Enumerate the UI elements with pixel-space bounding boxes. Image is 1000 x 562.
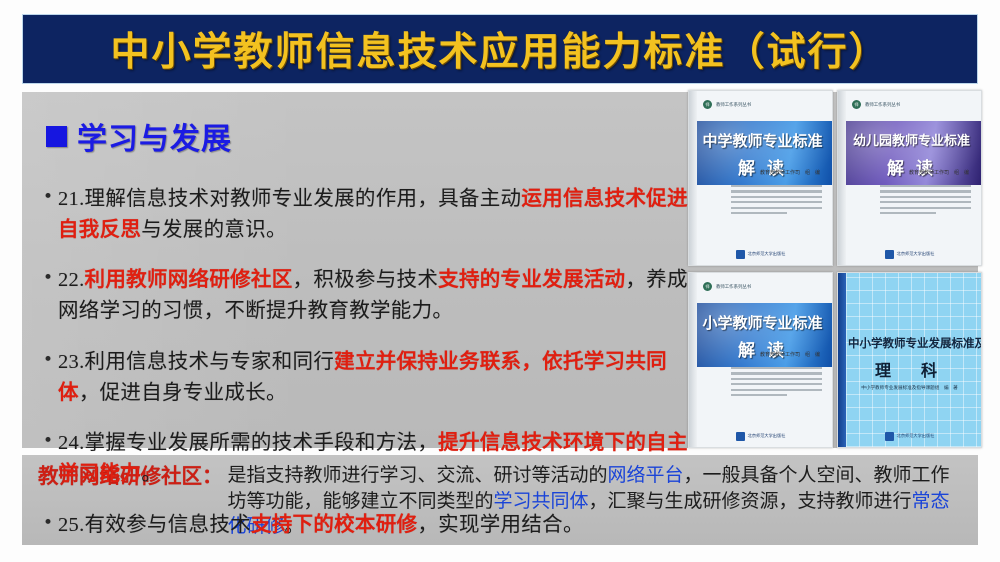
standard-item: 21.理解信息技术对教师专业发展的作用，具备主动运用信息技术促进自我反思与发展的… [36, 183, 706, 244]
standard-item-number: 22. [58, 269, 85, 291]
standard-item-text: 掌握专业发展所需的技术手段和方法， [85, 430, 439, 454]
standard-item-number: 21. [58, 188, 85, 210]
book-author: 教育部教师工作司 组 编 [760, 169, 820, 176]
book-cover: 师教师工作系列丛书小学教师专业标准解 读教育部教师工作司 组 编北京师范大学出版… [688, 272, 833, 448]
book-title-primary: 幼儿园教师专业标准 [846, 130, 977, 149]
standard-item-text: ，积极参与技术 [293, 267, 439, 291]
standard-item-text: 与发展的意识。 [141, 217, 287, 241]
standard-item: 23.利用信息技术与专家和同行建立并保持业务联系，依托学习共同体，促进自身专业成… [36, 346, 706, 407]
book-publisher: 北京师范大学出版社 [689, 250, 832, 259]
book-publisher: 北京师范大学出版社 [689, 432, 832, 441]
page-title: 中小学教师信息技术应用能力标准（试行） [110, 21, 889, 77]
slide-canvas: 中小学教师信息技术应用能力标准（试行） 学习与发展 21.理解信息技术对教师专业… [0, 0, 1000, 562]
publisher-logo-icon [885, 432, 894, 441]
book-cover: 中小学教师专业发展标准及指导理 科中小学教师专业发展标准及指导课题组 编 著北京… [837, 272, 982, 448]
series-name: 教师工作系列丛书 [716, 102, 751, 108]
book-spine [689, 273, 697, 447]
publisher-name: 北京师范大学出版社 [897, 433, 935, 439]
book-cover-gallery: 师教师工作系列丛书中学教师专业标准解 读教育部教师工作司 组 编北京师范大学出版… [688, 90, 980, 454]
book-blurb [731, 367, 822, 399]
book-title-secondary: 理 科 [838, 357, 981, 381]
book-author: 教育部教师工作司 组 编 [909, 169, 969, 176]
standard-item-text: ，促进自身专业成长。 [79, 380, 287, 404]
standard-item-text: 有效参与信息技术 [85, 512, 251, 536]
book-publisher: 北京师范大学出版社 [838, 250, 981, 259]
section-heading-label: 学习与发展 [77, 114, 232, 158]
publisher-name: 北京师范大学出版社 [748, 433, 786, 439]
standard-item: 24.掌握专业发展所需的技术手段和方法，提升信息技术环境下的自主学习能力。 [36, 427, 706, 488]
slide-title-bar: 中小学教师信息技术应用能力标准（试行） [22, 14, 978, 84]
standard-item-number: 24. [58, 432, 85, 454]
standard-item: 25.有效参与信息技术支持下的校本研修，实现学用结合。 [36, 509, 706, 540]
standard-item-number: 23. [58, 351, 85, 373]
standard-item-emphasis: 利用教师网络研修社区 [85, 267, 293, 291]
publisher-logo-icon [736, 250, 745, 259]
standard-item-emphasis: 支持下的校本研修 [251, 512, 417, 536]
series-seal-icon: 师 [703, 282, 712, 291]
standard-item-text: 理解信息技术对教师专业发展的作用，具备主动 [85, 186, 522, 210]
standard-item-emphasis: 支持的专业发展活动 [438, 267, 625, 291]
book-author: 教育部教师工作司 组 编 [760, 351, 820, 358]
series-seal-icon: 师 [703, 100, 712, 109]
book-cover: 师教师工作系列丛书中学教师专业标准解 读教育部教师工作司 组 编北京师范大学出版… [688, 90, 833, 266]
series-seal-icon: 师 [852, 100, 861, 109]
standard-item-number: 25. [58, 514, 85, 536]
book-author: 中小学教师专业发展标准及指导课题组 编 著 [838, 385, 981, 391]
standard-item-text: 。 [141, 461, 162, 485]
book-title-primary: 小学教师专业标准 [697, 312, 828, 333]
book-series-label: 师教师工作系列丛书 [703, 282, 751, 291]
book-spine [838, 91, 846, 265]
book-title-primary: 中小学教师专业发展标准及指导 [848, 335, 975, 351]
publisher-name: 北京师范大学出版社 [897, 251, 935, 257]
book-series-label: 师教师工作系列丛书 [703, 100, 751, 109]
book-spine [689, 91, 697, 265]
publisher-name: 北京师范大学出版社 [748, 251, 786, 257]
publisher-logo-icon [736, 432, 745, 441]
book-publisher: 北京师范大学出版社 [838, 432, 981, 441]
square-bullet-icon [46, 126, 67, 147]
publisher-logo-icon [885, 250, 894, 259]
standard-item: 22.利用教师网络研修社区，积极参与技术支持的专业发展活动，养成网络学习的习惯，… [36, 264, 706, 325]
standards-list: 21.理解信息技术对教师专业发展的作用，具备主动运用信息技术促进自我反思与发展的… [36, 162, 706, 546]
book-title-primary: 中学教师专业标准 [697, 130, 828, 151]
book-blurb [880, 185, 971, 217]
series-name: 教师工作系列丛书 [716, 284, 751, 290]
section-heading: 学习与发展 [46, 114, 232, 158]
series-name: 教师工作系列丛书 [865, 102, 900, 108]
standard-item-text: 利用信息技术与专家和同行 [85, 349, 335, 373]
standard-item-text: ，实现学用结合。 [417, 512, 583, 536]
book-series-label: 师教师工作系列丛书 [852, 100, 900, 109]
book-blurb [731, 185, 822, 217]
book-cover: 师教师工作系列丛书幼儿园教师专业标准解 读教育部教师工作司 组 编北京师范大学出… [837, 90, 982, 266]
